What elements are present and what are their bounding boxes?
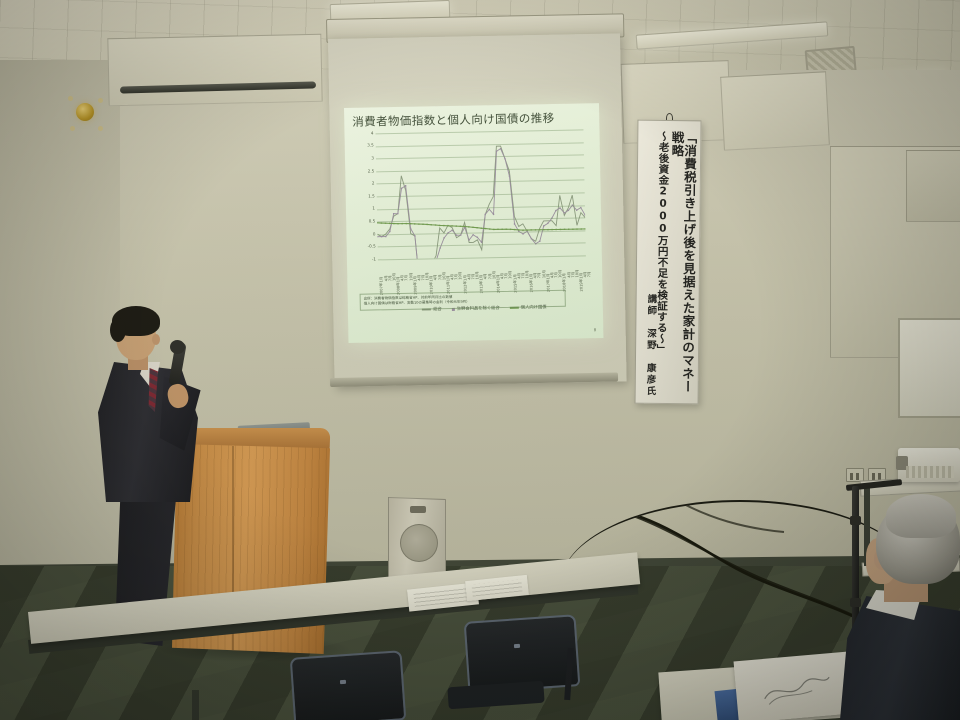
chart-series-marker — [468, 226, 469, 227]
y-tick-label: 4 — [371, 131, 374, 135]
chart-series-marker — [477, 237, 478, 238]
chart-series-marker — [389, 223, 390, 224]
chart-series-marker — [410, 223, 411, 224]
chart-series-marker — [493, 214, 494, 215]
chart-series-marker — [451, 225, 452, 226]
y-tick-label: 1.5 — [368, 194, 375, 198]
y-tick-label: 2 — [372, 182, 375, 186]
chart-series-marker — [460, 226, 461, 227]
chart-series-marker — [489, 228, 490, 229]
chart-series-marker — [496, 151, 497, 152]
chair-1[interactable] — [290, 650, 407, 720]
chart-series-marker — [497, 229, 498, 230]
chart-series-marker — [401, 223, 402, 224]
slide-page-number: 8 — [594, 327, 597, 332]
chart-series-marker — [431, 224, 432, 225]
chart-series-marker — [531, 238, 532, 239]
pa-speaker-woofer — [400, 524, 438, 562]
chart-series-marker — [489, 209, 490, 210]
left-wall — [0, 60, 120, 620]
chart-series-marker — [464, 226, 465, 227]
audience-handout-diagram — [759, 669, 836, 709]
x-tick-label: 7月 — [588, 271, 593, 277]
chart-series-marker — [410, 228, 411, 229]
chart-series-marker — [381, 236, 382, 237]
whiteboard — [898, 318, 960, 418]
chart-series-marker — [385, 236, 386, 237]
chart-series-marker — [485, 214, 486, 215]
chart-plot-area — [375, 129, 585, 259]
chart-series-marker — [397, 223, 398, 224]
chart-series-marker — [460, 234, 461, 235]
stand-knob-upper[interactable] — [850, 516, 861, 525]
wall-clock — [76, 103, 94, 121]
presenter-ear — [152, 334, 160, 345]
chart-series-marker — [405, 185, 406, 186]
chart-series-marker — [435, 224, 436, 225]
presenter-hair-side — [110, 318, 126, 342]
chart-series-marker — [389, 231, 390, 232]
chart-series-marker — [514, 229, 515, 230]
wall-soffit-left — [107, 34, 322, 106]
chart-series-marker — [584, 214, 585, 215]
chart-series-marker — [393, 213, 394, 214]
y-tick-label: 2.5 — [368, 169, 375, 173]
chart-series-marker — [555, 210, 556, 211]
chart-series-marker — [456, 225, 457, 226]
y-tick-label: 1 — [372, 207, 375, 211]
chart-series-marker — [406, 223, 407, 224]
chart-series-marker — [476, 227, 477, 228]
chart-y-axis: 43.532.521.510.50-0.5-1 — [358, 133, 376, 259]
banner-speaker-name: 講師 深野 康彦氏 — [645, 293, 656, 397]
cpi-jgb-line-chart: 43.532.521.510.50-0.5-1 2007年1月4月7月10月20… — [358, 129, 589, 273]
chart-series-marker — [401, 188, 402, 189]
chart-series-marker — [568, 210, 569, 211]
chart-series-marker — [418, 223, 419, 224]
chart-series-marker — [539, 240, 540, 241]
chart-series-marker — [500, 148, 501, 149]
y-tick-label: -0.5 — [368, 245, 376, 249]
y-tick-label: 0.5 — [369, 219, 376, 223]
chart-series-marker — [481, 242, 482, 243]
clock-ray-4 — [98, 126, 103, 131]
chart-series-marker — [506, 228, 507, 229]
chart-series-marker — [397, 213, 398, 214]
chart-series-marker — [377, 236, 378, 237]
chart-series-marker — [443, 237, 444, 238]
y-tick-label: -1 — [372, 257, 376, 261]
chart-series-marker — [564, 212, 565, 213]
chart-series-marker — [543, 225, 544, 226]
table-leg-1 — [192, 690, 199, 720]
pa-speaker-tweeter — [410, 506, 426, 513]
chart-series-marker — [447, 225, 448, 226]
chart-series-marker — [481, 227, 482, 228]
projected-slide: 消費者物価指数と個人向け国債の推移 43.532.521.510.50-0.5-… — [344, 103, 603, 343]
wall-panel-upper-right — [906, 150, 960, 222]
chart-series-marker — [472, 227, 473, 228]
chart-series-marker — [468, 239, 469, 240]
chart-series-marker — [485, 228, 486, 229]
chart-series-marker — [422, 224, 423, 225]
chart-series-marker — [514, 223, 515, 224]
chart-series-marker — [426, 224, 427, 225]
chair-2-bolt — [514, 644, 520, 648]
clock-ray-3 — [70, 126, 75, 131]
event-title-banner: 「消費税引き上げ後を見据えた家計のマネー戦略 ～老後資金2000万円不足を検証す… — [635, 120, 702, 405]
chart-series-marker — [393, 223, 394, 224]
wall-soffit-far-right — [720, 71, 830, 150]
chart-series-marker — [522, 233, 523, 234]
chart-series-marker — [452, 230, 453, 231]
chart-series-marker — [414, 235, 415, 236]
chart-series-marker — [510, 229, 511, 230]
banner-title-main: 「消費税引き上げ後を見据えた家計のマネー戦略 — [667, 131, 695, 397]
chart-series-marker — [443, 225, 444, 226]
chart-series-marker — [493, 229, 494, 230]
y-tick-label: 3.5 — [367, 144, 374, 148]
chart-series-marker — [504, 158, 505, 159]
clock-ray-2 — [98, 98, 103, 103]
chart-series-marker — [439, 247, 440, 248]
chart-series-marker — [509, 175, 510, 176]
projector-vent — [906, 466, 954, 478]
chart-series-marker — [580, 207, 581, 208]
chart-series-marker — [576, 209, 577, 210]
audience-member-hair-top — [886, 494, 956, 538]
slide-title: 消費者物価指数と個人向け国債の推移 — [352, 110, 555, 130]
chart-series-marker — [456, 234, 457, 235]
chart-series-marker — [501, 229, 502, 230]
chart-series-marker — [414, 223, 415, 224]
seminar-room-photo: 消費者物価指数と個人向け国債の推移 43.532.521.510.50-0.5-… — [0, 0, 960, 720]
chart-series-marker — [385, 222, 386, 223]
y-tick-label: 0 — [373, 232, 376, 236]
chart-series-marker — [439, 225, 440, 226]
y-tick-label: 3 — [371, 156, 374, 160]
chair-1-bolt — [340, 680, 346, 684]
chart-series-marker — [559, 207, 560, 208]
chart-series-marker — [472, 234, 473, 235]
clock-ray-1 — [68, 96, 73, 101]
chart-series-marker — [547, 223, 548, 224]
stand-knob-lower[interactable] — [850, 598, 861, 607]
